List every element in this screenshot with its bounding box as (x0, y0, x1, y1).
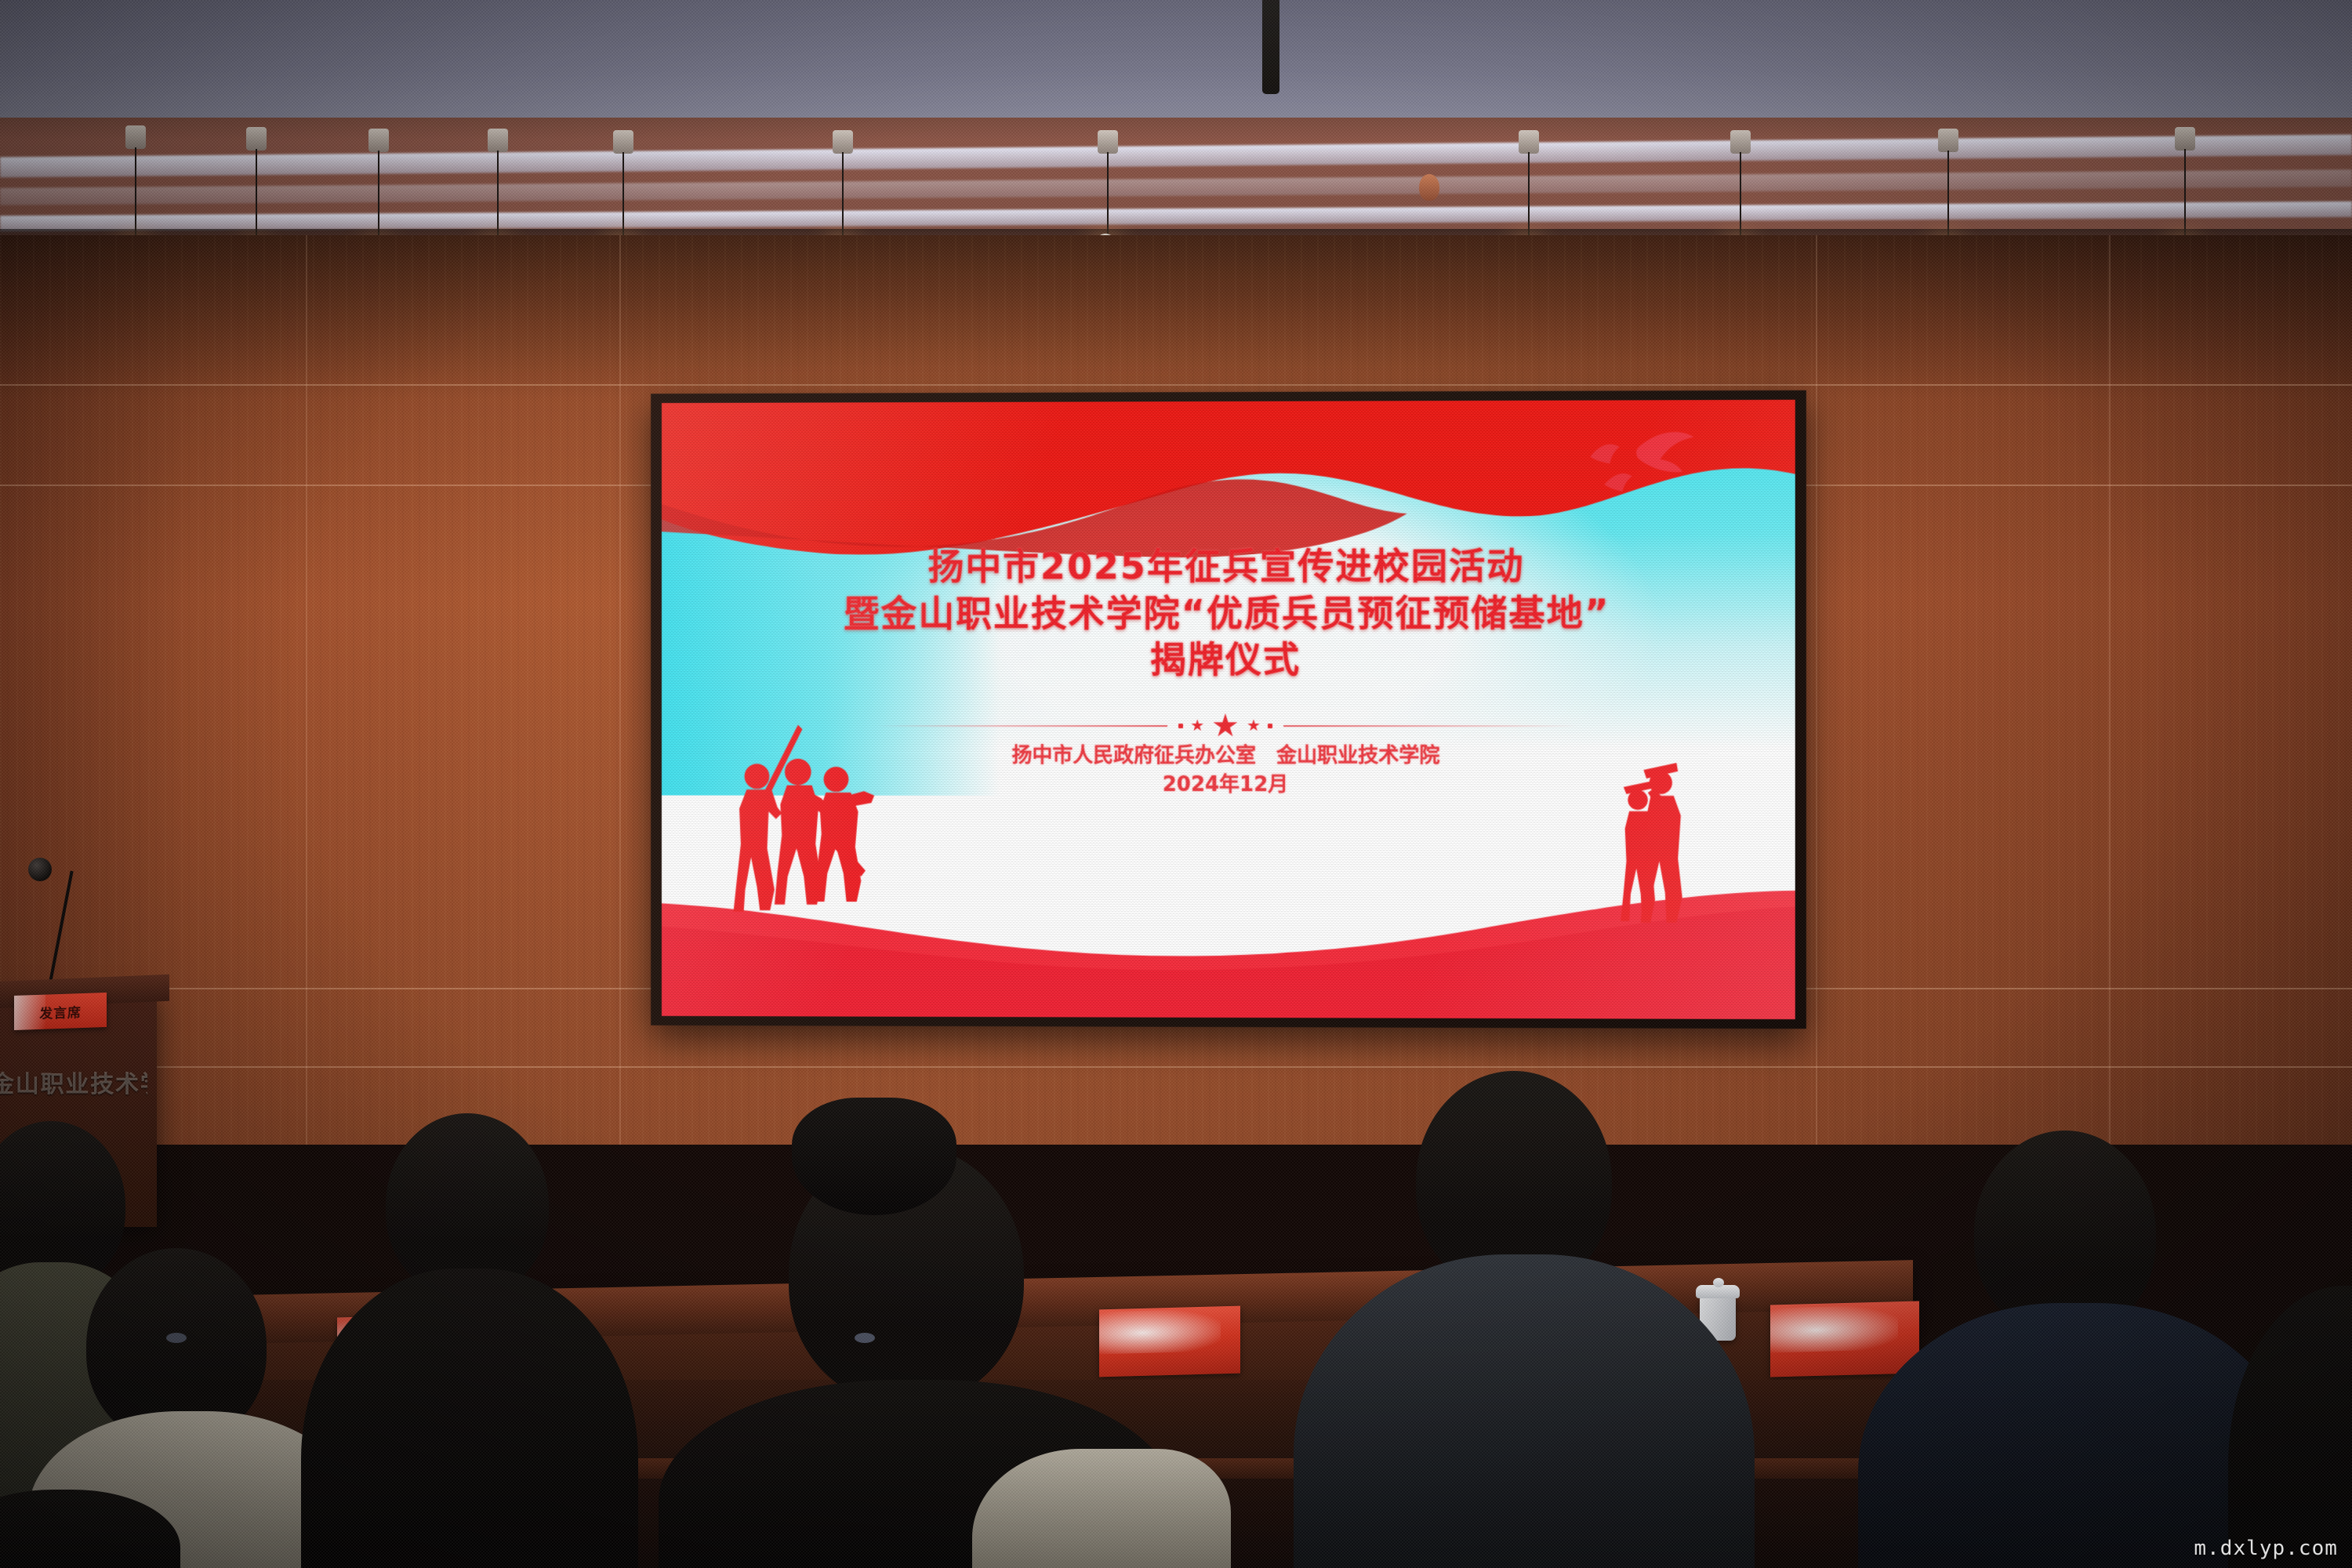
star-small-left-icon: ★ (1190, 718, 1204, 734)
screen-title-line-1: 扬中市2025年征兵宣传进校园活动 (662, 543, 1795, 591)
led-screen: 扬中市2025年征兵宣传进校园活动 暨金山职业技术学院“优质兵员预征预储基地” … (662, 400, 1795, 1019)
wall-seam (2109, 235, 2111, 1145)
microphone-icon (28, 858, 52, 881)
screen-footer-line-2: 2024年12月 (662, 771, 1795, 800)
watermark: m.dxlyp.com (2194, 1537, 2338, 1560)
photograph-canvas: 扬中市2025年征兵宣传进校园活动 暨金山职业技术学院“优质兵员预征预储基地” … (0, 0, 2352, 1568)
hair-tie (855, 1333, 875, 1343)
divider-rule-left (875, 725, 1167, 727)
wall-seam (619, 235, 621, 1145)
screen-title-block: 扬中市2025年征兵宣传进校园活动 暨金山职业技术学院“优质兵员预征预储基地” … (662, 543, 1795, 684)
star-small-right-icon: ★ (1247, 718, 1261, 734)
divider-dot-right-icon (1268, 724, 1272, 728)
star-large-icon: ★ (1211, 710, 1240, 742)
divider-stars: ★ ★ ★ (1167, 710, 1283, 742)
wall-seam (306, 235, 307, 1145)
star-divider: ★ ★ ★ (875, 710, 1577, 742)
sprinkler-head-icon (1419, 174, 1439, 201)
ceiling-duct (1262, 0, 1279, 94)
podium-name-card: 发言席 (14, 993, 107, 1030)
screen-title-line-3: 揭牌仪式 (662, 637, 1795, 684)
screen-text-content: 扬中市2025年征兵宣传进校园活动 暨金山职业技术学院“优质兵员预征预储基地” … (662, 400, 1795, 1019)
screen-title-line-2: 暨金山职业技术学院“优质兵员预征预储基地” (662, 590, 1795, 637)
podium-institution-text: 金山职业技术学院 (0, 1065, 147, 1098)
hair-tie (166, 1333, 187, 1343)
table-name-card (1099, 1306, 1240, 1377)
led-screen-frame: 扬中市2025年征兵宣传进校园活动 暨金山职业技术学院“优质兵员预征预储基地” … (651, 390, 1806, 1029)
name-card-glare (1770, 1305, 1898, 1353)
name-card-glare (1099, 1309, 1221, 1355)
teacup-knob (1713, 1278, 1724, 1287)
wall-seam (1816, 235, 1817, 1145)
table-name-card (1770, 1301, 1919, 1377)
person-body (2228, 1286, 2352, 1568)
wall-seam (0, 384, 2352, 386)
podium-name-card-text: 发言席 (39, 1001, 82, 1022)
person-ponytail (792, 1098, 956, 1215)
screen-footer-block: 扬中市人民政府征兵办公室 金山职业技术学院 2024年12月 (662, 742, 1795, 800)
divider-dot-left-icon (1178, 724, 1183, 728)
divider-rule-right (1283, 725, 1578, 727)
wall-seam (0, 1066, 2352, 1068)
screen-footer-line-1: 扬中市人民政府征兵办公室 金山职业技术学院 (662, 742, 1795, 771)
